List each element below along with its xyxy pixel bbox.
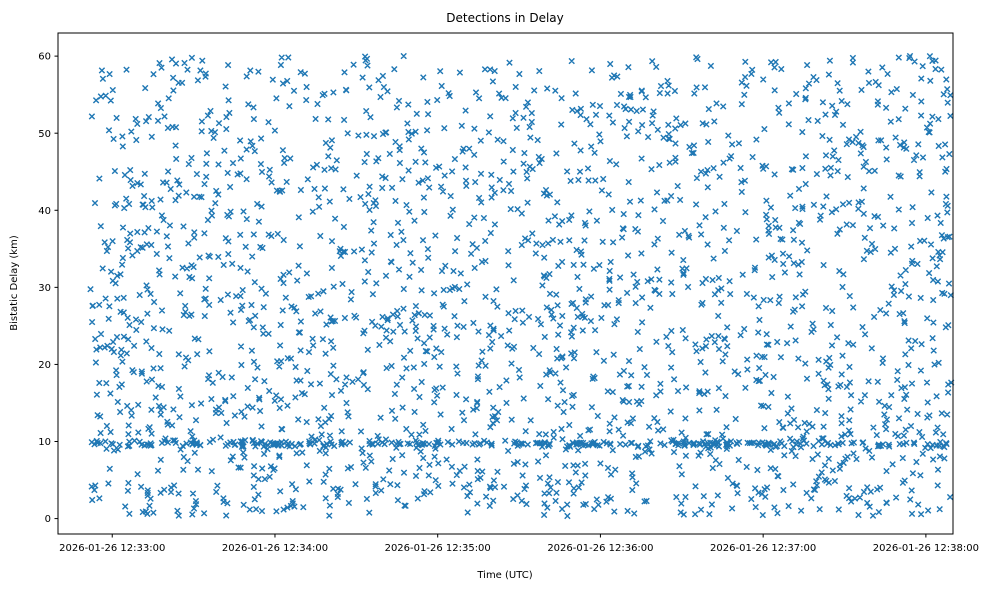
- x-tick-label-3: 2026-01-26 12:36:00: [547, 543, 653, 554]
- chart-title: Detections in Delay: [446, 11, 564, 25]
- x-tick-label-4: 2026-01-26 12:37:00: [710, 543, 816, 554]
- x-tick-label-5: 2026-01-26 12:38:00: [873, 543, 979, 554]
- axes-background: [58, 33, 953, 534]
- y-tick-label-6: 60: [38, 52, 51, 63]
- x-tick-label-2: 2026-01-26 12:35:00: [385, 543, 491, 554]
- y-axis-label: Bistatic Delay (km): [9, 235, 20, 331]
- scatter-chart[interactable]: 2026-01-26 12:33:002026-01-26 12:34:0020…: [0, 0, 982, 590]
- x-tick-label-1: 2026-01-26 12:34:00: [222, 543, 328, 554]
- y-tick-label-4: 40: [38, 206, 51, 217]
- y-tick-label-3: 30: [38, 283, 51, 294]
- figure-canvas: 2026-01-26 12:33:002026-01-26 12:34:0020…: [0, 0, 982, 590]
- x-tick-label-0: 2026-01-26 12:33:00: [59, 543, 165, 554]
- y-tick-label-0: 0: [45, 514, 51, 525]
- x-axis-label: Time (UTC): [476, 570, 532, 581]
- y-tick-label-5: 50: [38, 129, 51, 140]
- y-tick-label-1: 10: [38, 437, 51, 448]
- y-tick-label-2: 20: [38, 360, 51, 371]
